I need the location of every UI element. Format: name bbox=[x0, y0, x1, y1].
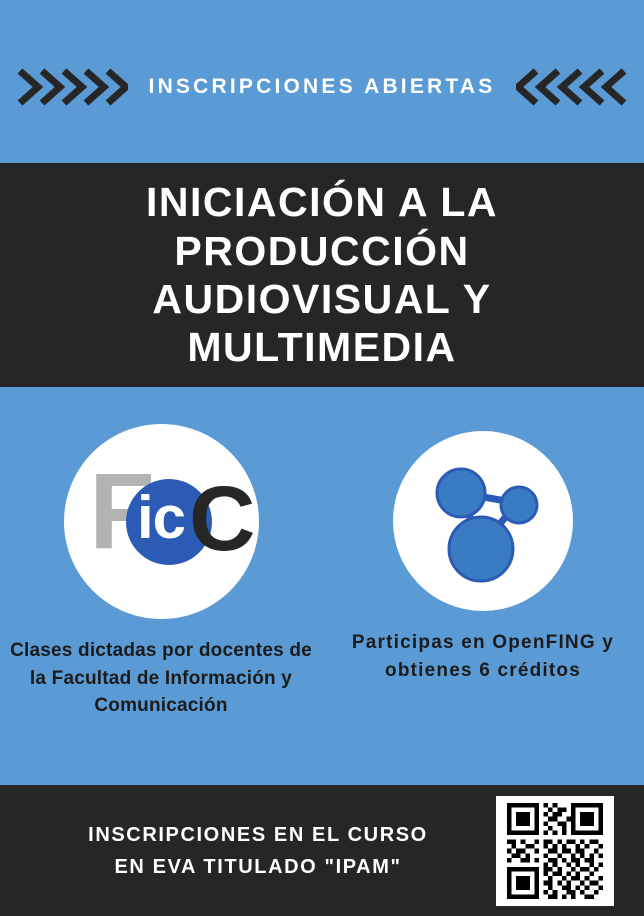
feature-item-fic: F ic C Clases dictadas por docentes de l… bbox=[0, 387, 322, 720]
footer-bar: INSCRIPCIONES EN EL CURSO EN EVA TITULAD… bbox=[0, 785, 644, 916]
qr-code-icon bbox=[496, 796, 614, 906]
chevron-right-icon bbox=[16, 65, 128, 109]
fic-logo-icon: F ic C bbox=[64, 424, 259, 619]
poster: INSCRIPCIONES ABIERTAS INICIACIÓN A LA P… bbox=[0, 0, 644, 916]
fic-letters-ic: ic bbox=[137, 488, 185, 548]
chevron-left-icon bbox=[516, 65, 628, 109]
features-section: F ic C Clases dictadas por docentes de l… bbox=[0, 387, 644, 785]
feature-item-openfing: Participas en OpenFING y obtienes 6 créd… bbox=[322, 387, 644, 684]
feature-caption-fic: Clases dictadas por docentes de la Facul… bbox=[0, 637, 322, 720]
top-banner: INSCRIPCIONES ABIERTAS bbox=[0, 0, 644, 157]
title-block: INICIACIÓN A LA PRODUCCIÓN AUDIOVISUAL Y… bbox=[0, 163, 644, 387]
network-nodes-icon bbox=[393, 431, 573, 611]
feature-caption-openfing: Participas en OpenFING y obtienes 6 créd… bbox=[322, 629, 644, 684]
banner-title: INSCRIPCIONES ABIERTAS bbox=[149, 75, 496, 99]
fic-letter-c: C bbox=[189, 473, 255, 565]
footer-text: INSCRIPCIONES EN EL CURSO EN EVA TITULAD… bbox=[0, 819, 496, 883]
footer-line-1: INSCRIPCIONES EN EL CURSO bbox=[20, 819, 496, 851]
footer-line-2: EN EVA TITULADO "IPAM" bbox=[20, 851, 496, 883]
page-title: INICIACIÓN A LA PRODUCCIÓN AUDIOVISUAL Y… bbox=[0, 178, 644, 372]
